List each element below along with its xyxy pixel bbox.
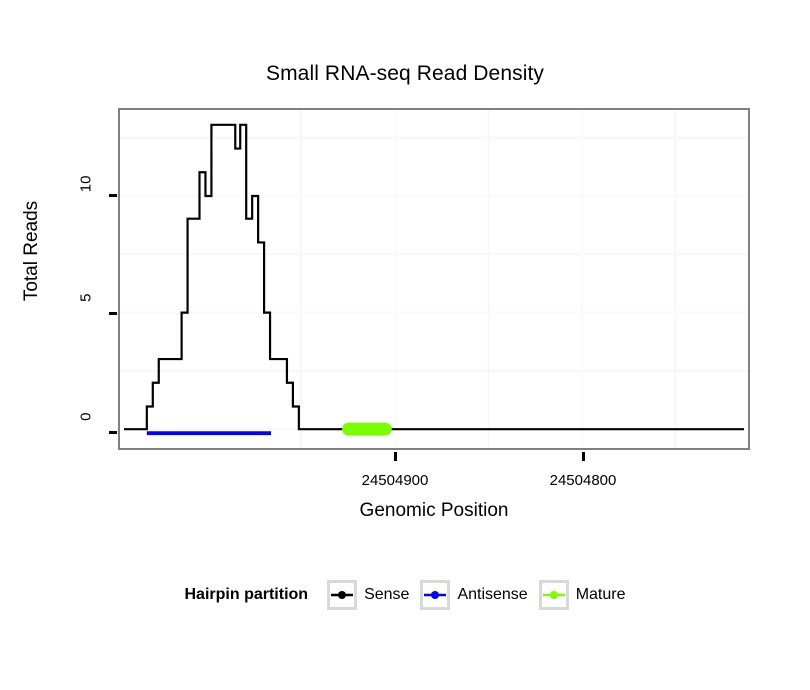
chart-title: Small RNA-seq Read Density bbox=[0, 62, 810, 86]
y-tick-label-10: 10 bbox=[78, 176, 95, 216]
legend-label-antisense: Antisense bbox=[457, 586, 527, 604]
legend-item-mature[interactable]: Mature bbox=[539, 580, 626, 610]
chart-root: Small RNA-seq Read Density Total Reads 0… bbox=[0, 0, 810, 690]
gridlines-minor bbox=[120, 110, 748, 448]
plot-panel bbox=[118, 108, 750, 450]
legend-label-mature: Mature bbox=[576, 586, 626, 604]
series-sense-line bbox=[124, 125, 744, 429]
y-tick-mark-10 bbox=[109, 194, 117, 197]
x-axis-title: Genomic Position bbox=[118, 500, 750, 522]
legend-label-sense: Sense bbox=[364, 586, 409, 604]
legend-key-antisense-icon bbox=[420, 580, 450, 610]
y-tick-label-0: 0 bbox=[78, 413, 95, 453]
x-tick-label-24504900: 24504900 bbox=[325, 472, 465, 489]
legend-item-antisense[interactable]: Antisense bbox=[420, 580, 527, 610]
y-axis-title: Total Reads bbox=[21, 151, 43, 351]
plot-area bbox=[120, 110, 748, 448]
x-tick-mark-24504900 bbox=[394, 452, 397, 461]
legend-title: Hairpin partition bbox=[185, 586, 309, 604]
legend-item-sense[interactable]: Sense bbox=[327, 580, 409, 610]
x-tick-label-24504800: 24504800 bbox=[513, 472, 653, 489]
legend-key-sense-icon bbox=[327, 580, 357, 610]
y-tick-label-5: 5 bbox=[78, 294, 95, 334]
legend: Hairpin partition Sense Antisense bbox=[0, 580, 810, 610]
legend-key-mature-icon bbox=[539, 580, 569, 610]
gridlines-major bbox=[120, 110, 748, 448]
y-tick-mark-5 bbox=[109, 312, 117, 315]
y-tick-mark-0 bbox=[109, 431, 117, 434]
x-tick-mark-24504800 bbox=[582, 452, 585, 461]
